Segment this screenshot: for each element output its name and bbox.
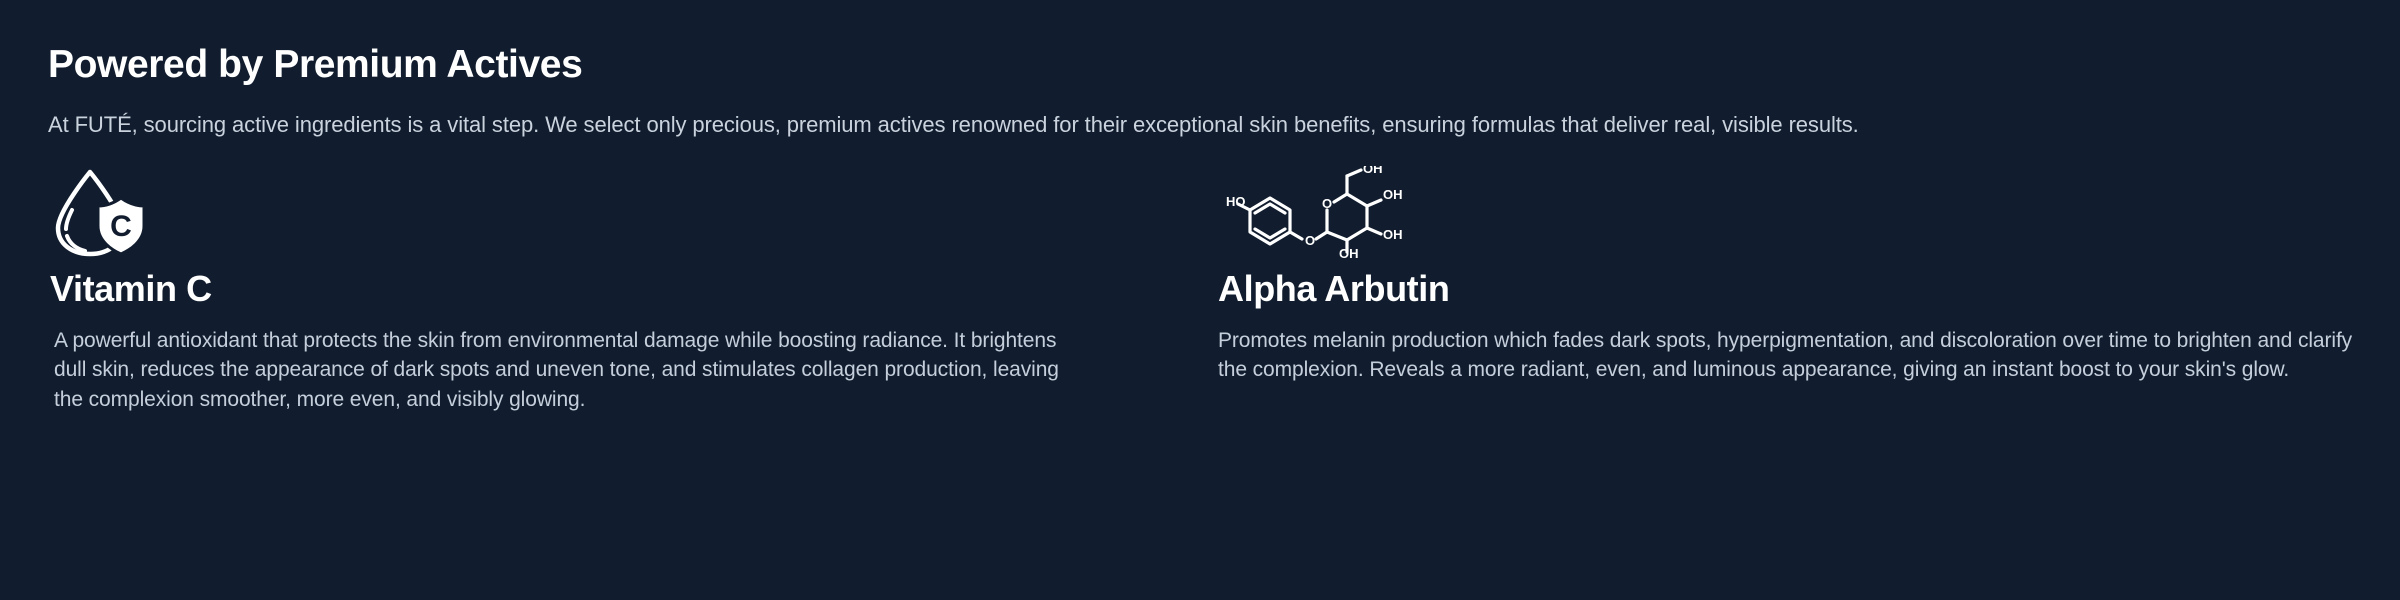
section-title: Powered by Premium Actives	[48, 44, 2352, 87]
alpha-arbutin-visual: HO O O OH OH OH OH	[1218, 166, 2363, 258]
active-card-alpha-arbutin: HO O O OH OH OH OH Alpha Arbutin Promote…	[1218, 166, 2363, 415]
section-intro-paragraph: At FUTÉ, sourcing active ingredients is …	[48, 109, 2338, 140]
molecule-label-ring-o: O	[1322, 196, 1332, 211]
molecule-label-oh-lower-right: OH	[1383, 227, 1403, 242]
actives-card-list: C Vitamin C A powerful antioxidant that …	[48, 166, 2352, 415]
vitamin-c-shield-letter: C	[110, 210, 132, 243]
active-card-title-vitamin-c: Vitamin C	[48, 268, 1193, 309]
molecule-label-ho: HO	[1226, 194, 1246, 209]
active-card-vitamin-c: C Vitamin C A powerful antioxidant that …	[48, 166, 1193, 415]
premium-actives-section: Powered by Premium Actives At FUTÉ, sour…	[0, 0, 2400, 600]
alpha-arbutin-molecule-icon: HO O O OH OH OH OH	[1226, 166, 1456, 258]
molecule-label-oh-upper-right: OH	[1383, 187, 1403, 202]
active-card-body-alpha-arbutin: Promotes melanin production which fades …	[1218, 326, 2353, 386]
vitamin-c-droplet-shield-icon: C	[48, 166, 156, 258]
active-card-body-vitamin-c: A powerful antioxidant that protects the…	[48, 326, 1068, 415]
molecule-label-oh-bottom: OH	[1339, 246, 1359, 258]
active-card-title-alpha-arbutin: Alpha Arbutin	[1218, 268, 2363, 309]
molecule-label-oh-top: OH	[1363, 166, 1383, 176]
vitamin-c-visual: C	[48, 166, 1193, 258]
molecule-label-glycosidic-o: O	[1305, 233, 1315, 248]
